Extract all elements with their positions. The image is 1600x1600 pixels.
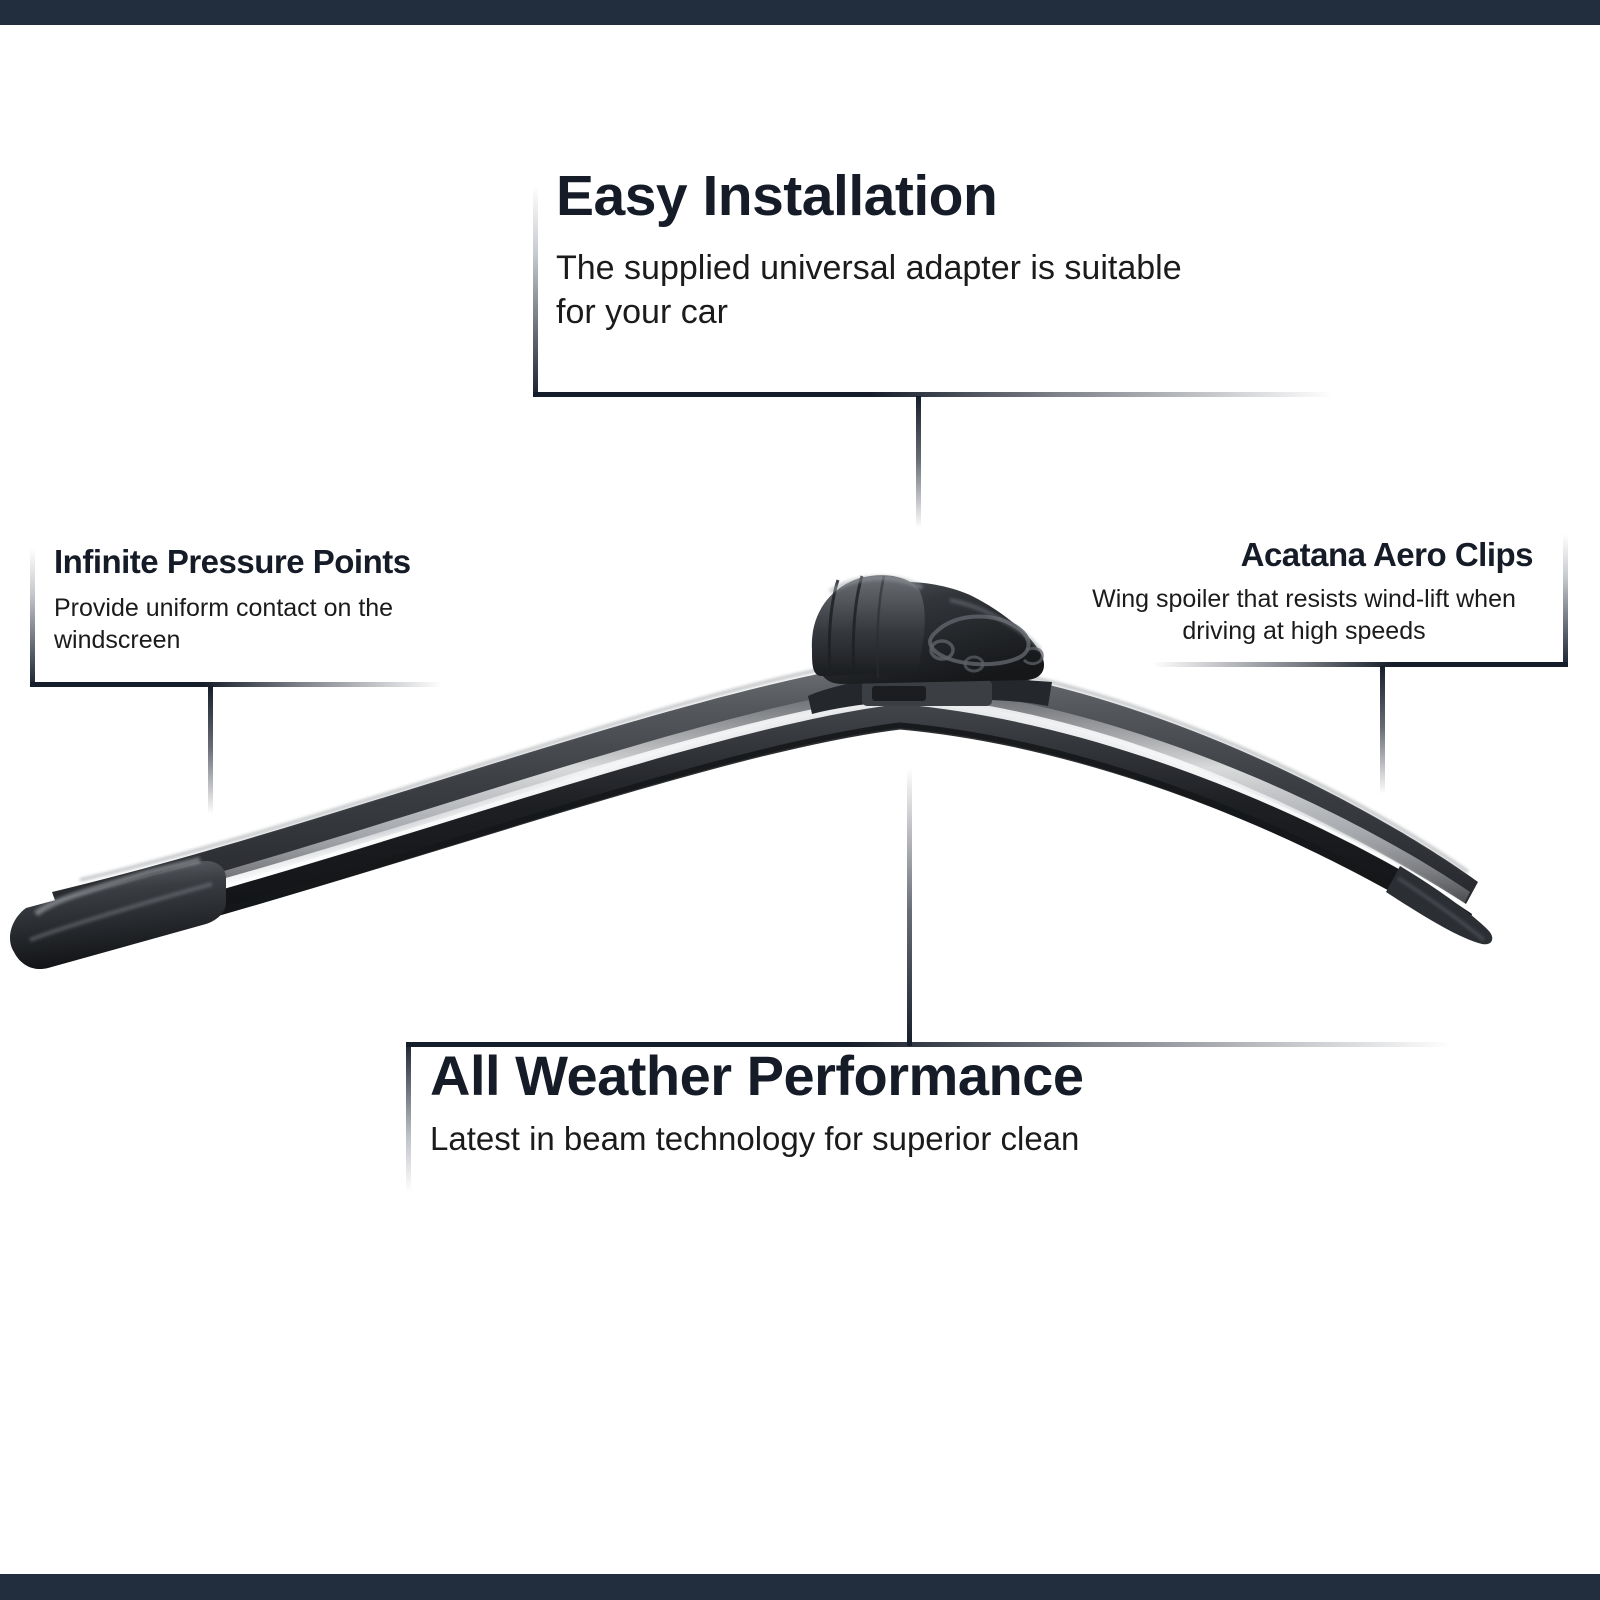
bracket-rail-easy-installation [533, 392, 1333, 397]
adapter-head [808, 575, 1052, 714]
bracket-edge-all-weather-performance [406, 1042, 411, 1192]
leader-all-weather-performance [907, 768, 912, 1046]
bracket-rail-acatana-aero-clips [1152, 662, 1568, 667]
callout-acatana-aero-clips: Acatana Aero Clips Wing spoiler that res… [1075, 538, 1533, 647]
callout-infinite-pressure-points: Infinite Pressure Points Provide uniform… [54, 545, 524, 656]
callout-body-all-weather-performance: Latest in beam technology for superior c… [430, 1118, 1310, 1160]
callout-body-infinite-pressure-points: Provide uniform contact on the windscree… [54, 592, 524, 656]
callout-easy-installation: Easy Installation The supplied universal… [556, 168, 1196, 334]
callout-title-easy-installation: Easy Installation [556, 168, 1196, 225]
infographic-stage: Easy Installation The supplied universal… [0, 0, 1600, 1600]
callout-title-all-weather-performance: All Weather Performance [430, 1048, 1310, 1104]
leader-acatana-aero-clips [1380, 666, 1385, 794]
callout-all-weather-performance: All Weather Performance Latest in beam t… [430, 1048, 1310, 1160]
callout-body-acatana-aero-clips: Wing spoiler that resists wind-lift when… [1075, 583, 1533, 647]
callout-title-acatana-aero-clips: Acatana Aero Clips [1075, 538, 1533, 571]
bracket-edge-infinite-pressure-points [30, 548, 35, 686]
bracket-edge-acatana-aero-clips [1563, 534, 1568, 666]
bracket-edge-easy-installation [533, 186, 538, 396]
leader-easy-installation [916, 396, 921, 528]
callout-title-infinite-pressure-points: Infinite Pressure Points [54, 545, 524, 578]
leader-infinite-pressure-points [208, 686, 213, 814]
bracket-rail-infinite-pressure-points [30, 682, 442, 687]
callout-body-easy-installation: The supplied universal adapter is suitab… [556, 247, 1196, 334]
